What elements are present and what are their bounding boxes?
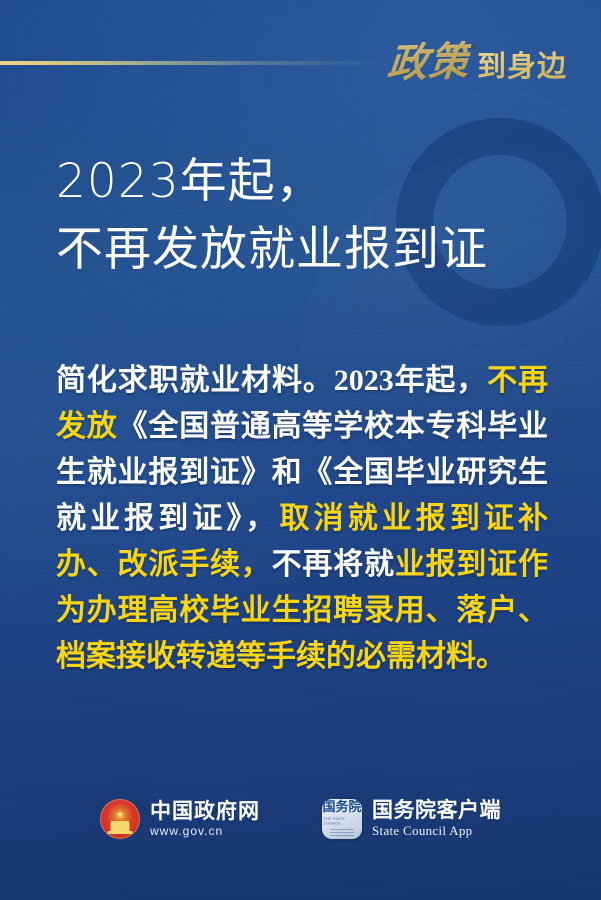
gold-divider-rule <box>0 61 378 65</box>
state-council-app-logo-unit[interactable]: 国务院 THE STATE COUNCIL 国务院客户端 State Counc… <box>322 798 501 839</box>
policy-poster: 政策 到身边 2023年起， 不再发放就业报到证 简化求职就业材料。2023年起… <box>0 0 601 900</box>
footer: ★ 中国政府网 www.gov.cn 国务院 THE STATE COUNCIL… <box>0 798 601 839</box>
emblem-gate-shape <box>111 821 130 831</box>
emblem-star-icon: ★ <box>115 810 125 821</box>
page-title: 2023年起， 不再发放就业报到证 <box>56 148 556 284</box>
national-emblem-icon: ★ <box>100 799 140 839</box>
brand-subtitle-text: 到身边 <box>477 43 567 85</box>
state-council-app-name: 国务院客户端 <box>372 798 501 822</box>
gov-cn-name: 中国政府网 <box>150 799 260 823</box>
state-council-app-name-en: State Council App <box>372 822 501 839</box>
gov-cn-logo-unit[interactable]: ★ 中国政府网 www.gov.cn <box>100 799 260 839</box>
body-plain-run: 简化求职就业材料。2023年起， <box>56 364 487 397</box>
brand-mark-text: 政策 <box>385 29 473 89</box>
state-council-app-text: 国务院客户端 State Council App <box>372 798 501 839</box>
body-plain-run: 不再将就 <box>272 548 395 581</box>
gov-cn-url: www.gov.cn <box>150 823 260 839</box>
app-icon-lines-decoration <box>330 828 354 836</box>
body-paragraph: 简化求职就业材料。2023年起，不再发放《全国普通高等学校本专科毕业生就业报到证… <box>56 358 548 680</box>
brand-logo: 政策 到身边 <box>388 30 567 88</box>
app-icon-sublabel: THE STATE COUNCIL <box>324 816 361 825</box>
gov-cn-text: 中国政府网 www.gov.cn <box>150 799 260 839</box>
app-icon-label: 国务院 <box>322 801 361 815</box>
state-council-app-icon: 国务院 THE STATE COUNCIL <box>322 799 362 839</box>
